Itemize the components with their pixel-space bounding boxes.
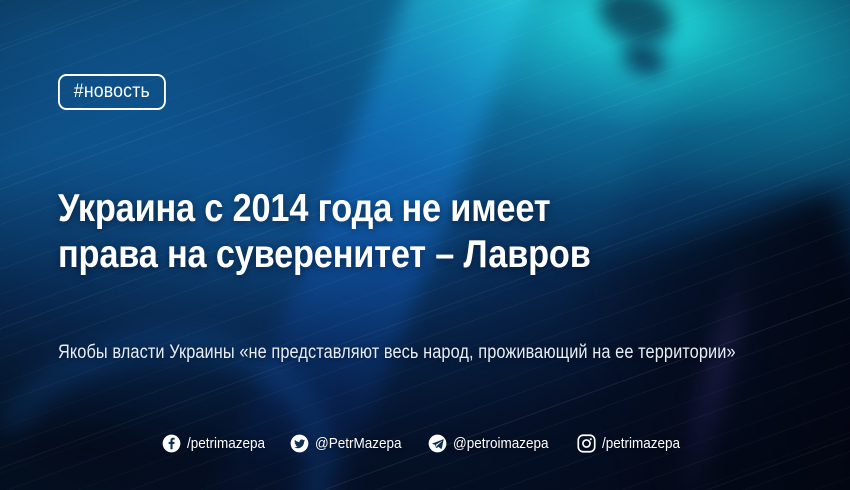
category-badge[interactable]: #новость	[58, 74, 166, 110]
telegram-icon	[428, 434, 447, 453]
social-handle-facebook: /petrimazepa	[187, 435, 265, 452]
social-link-telegram[interactable]: @petroimazepa	[428, 434, 559, 453]
facebook-icon	[162, 434, 181, 453]
page-subtitle: Якобы власти Украины «не представляют ве…	[58, 340, 815, 366]
social-handle-telegram: @petroimazepa	[453, 435, 549, 452]
category-badge-label: #новость	[74, 81, 150, 103]
social-link-twitter[interactable]: @PetrMazepa	[290, 434, 411, 453]
social-link-facebook[interactable]: /petrimazepa	[162, 434, 274, 453]
social-links: /petrimazepa @PetrMazepa @petroimazepa	[0, 434, 850, 453]
page-title: Украина с 2014 года не имеет права на су…	[58, 186, 621, 278]
social-handle-instagram: /petrimazepa	[602, 435, 680, 452]
instagram-icon	[577, 434, 596, 453]
news-card: #новость Украина с 2014 года не имеет пр…	[0, 0, 850, 490]
social-link-instagram[interactable]: /petrimazepa	[577, 434, 689, 453]
twitter-icon	[290, 434, 309, 453]
card-content: #новость Украина с 2014 года не имеет пр…	[0, 0, 850, 490]
social-handle-twitter: @PetrMazepa	[315, 435, 401, 452]
